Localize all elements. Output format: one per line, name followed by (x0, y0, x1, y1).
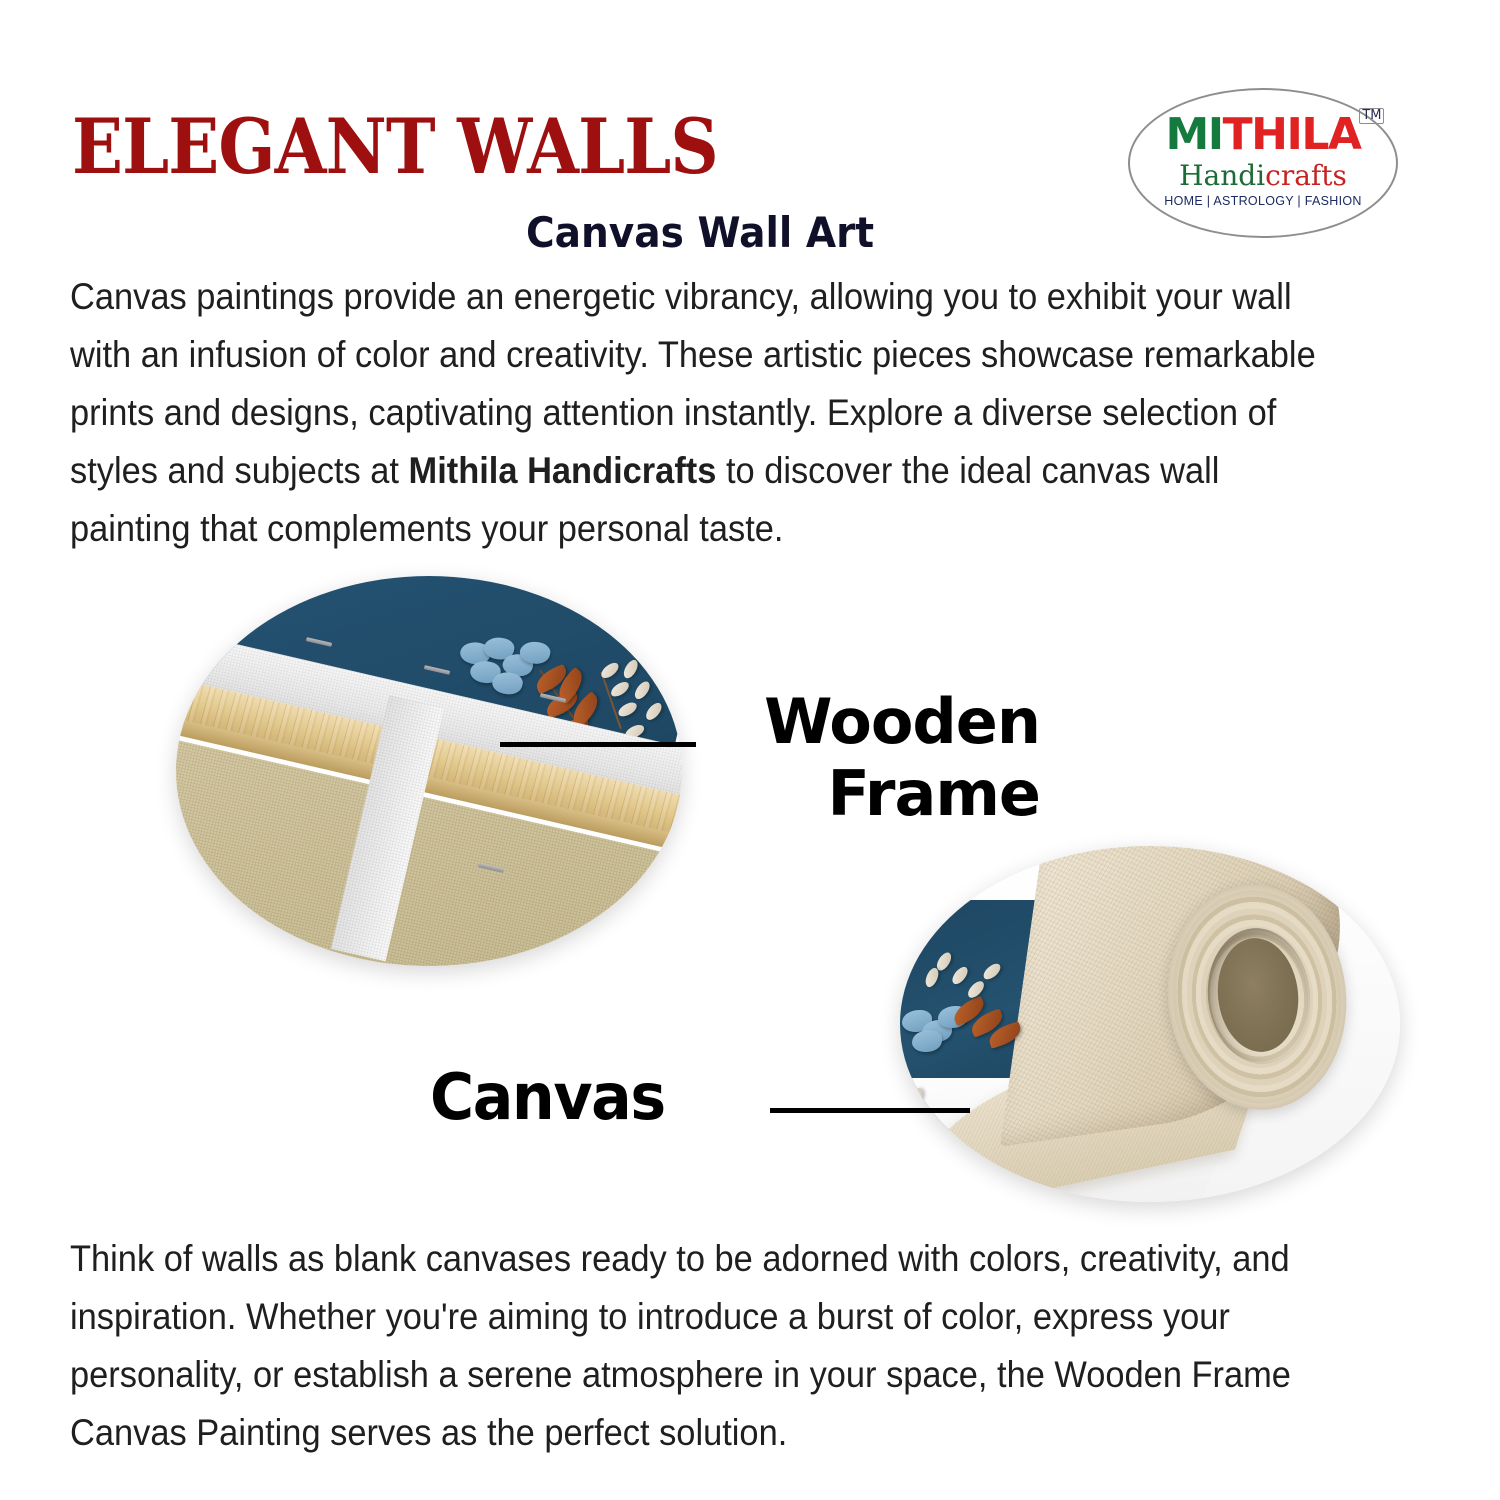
brand-wordmark: MITHILA TM (1166, 112, 1361, 158)
canvas-roll-photo (900, 846, 1400, 1202)
brand-subname: Handicrafts (1130, 160, 1396, 192)
trademark-icon: TM (1359, 108, 1384, 124)
canvas-leader-line (770, 1108, 970, 1113)
brand-wordmark-part-1: MI (1166, 109, 1223, 160)
closing-paragraph: Think of walls as blank canvases ready t… (70, 1230, 1335, 1462)
brand-subname-part-2: crafts (1265, 159, 1347, 192)
brand-logo-inner: MITHILA TM Handicrafts HOME | ASTROLOGY … (1130, 112, 1396, 208)
canvas-label: Canvas (430, 1062, 665, 1134)
brand-wordmark-part-2: THILA (1223, 109, 1361, 160)
intro-paragraph-brand: Mithila Handicrafts (409, 450, 717, 491)
page-title: ELEGANT WALLS (72, 106, 718, 188)
wooden-frame-label: Wooden Frame (700, 686, 1040, 830)
section-subtitle: Canvas Wall Art (49, 208, 1351, 258)
wooden-frame-scene (176, 576, 682, 966)
brand-subname-part-1: Handi (1179, 159, 1265, 192)
intro-paragraph: Canvas paintings provide an energetic vi… (70, 268, 1335, 558)
wooden-frame-photo (176, 576, 682, 966)
wooden-frame-leader-line (500, 742, 696, 747)
canvas-roll-scene (900, 846, 1400, 1202)
brand-tagline: HOME | ASTROLOGY | FASHION (1130, 194, 1396, 208)
